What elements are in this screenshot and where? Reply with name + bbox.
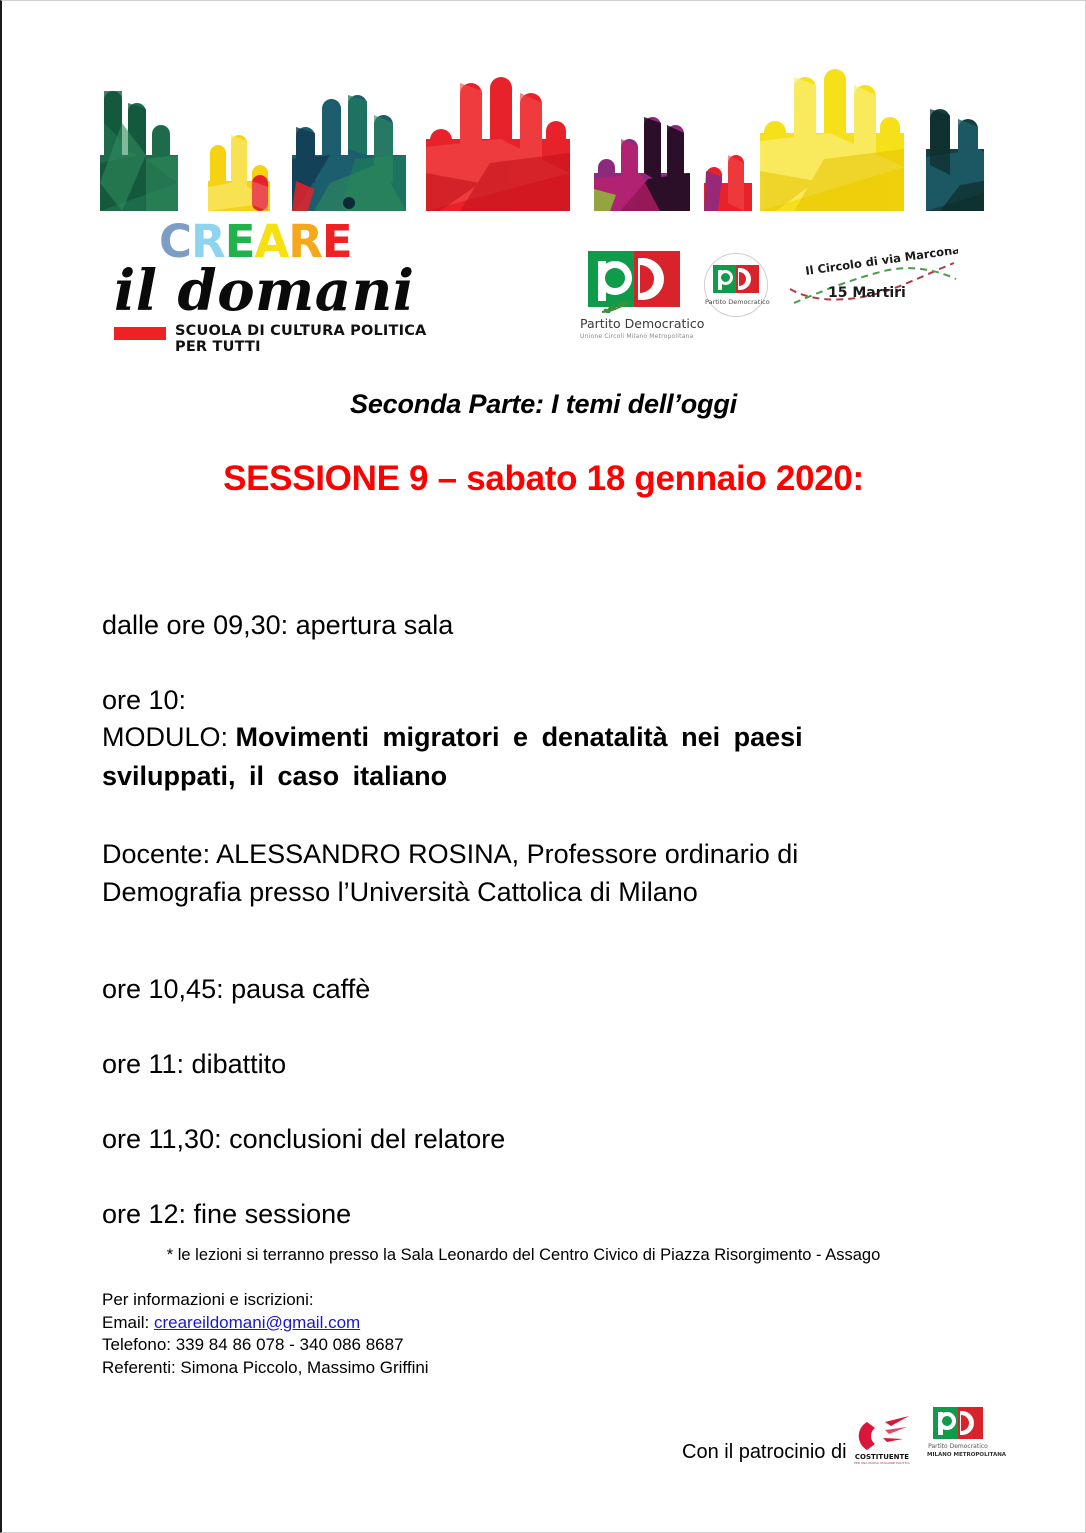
poster-page: CREARE il domani SCUOLA DI CULTURA POLIT… xyxy=(0,0,1086,1533)
circolo-via-marcona-logo: Il Circolo di via Marcona 15 Martiri xyxy=(788,249,958,311)
schedule-module: MODULO: Movimenti migratori e denatalità… xyxy=(102,718,857,795)
patronage-label: Con il patrocinio di xyxy=(682,1441,847,1464)
pd-p-bowl xyxy=(598,261,632,295)
contact-block: Per informazioni e iscrizioni: Email: cr… xyxy=(102,1289,429,1379)
olive-branch-icon xyxy=(600,300,640,314)
poster-subtitle: Seconda Parte: I temi dell’oggi xyxy=(2,389,1085,420)
pd-circle-caption: Partito Democratico xyxy=(705,298,767,306)
pd-logo-circle: Partito Democratico xyxy=(704,253,768,317)
pd-logo-subcaption: Unione Circoli Milano Metropolitana xyxy=(580,333,688,340)
module-label: MODULO: xyxy=(102,722,236,752)
pd-p-bowl-milano xyxy=(938,1412,956,1430)
logo-tagline-line1: SCUOLA DI CULTURA POLITICA xyxy=(175,323,426,339)
contact-phone: Telefono: 339 84 86 078 - 340 086 8687 xyxy=(102,1334,429,1357)
costituente-logo: COSTITUENTE PER UNA NUOVA STAGIONE POLIT… xyxy=(851,1408,913,1466)
schedule-conclusioni: ore 11,30: conclusioni del relatore xyxy=(102,1122,972,1157)
logo-red-bar xyxy=(114,327,166,340)
schedule-pausa: ore 10,45: pausa caffè xyxy=(102,972,972,1007)
logo-tagline-row: SCUOLA DI CULTURA POLITICA PER TUTTI xyxy=(114,323,534,355)
pd-milano-subcaption: MILANO METROPOLITANA xyxy=(927,1452,989,1458)
session-title: SESSIONE 9 – sabato 18 gennaio 2020: xyxy=(2,459,1085,499)
pd-mark-icon-milano xyxy=(933,1407,983,1439)
pd-milano-logo: Partito Democratico MILANO METROPOLITANA xyxy=(927,1407,989,1467)
pd-mark-icon xyxy=(588,251,680,307)
circolo-line1: Il Circolo di via Marcona xyxy=(804,249,958,278)
pd-mark-icon-small xyxy=(713,265,759,293)
logo-tagline-line2: PER TUTTI xyxy=(175,339,426,355)
logo-tagline: SCUOLA DI CULTURA POLITICA PER TUTTI xyxy=(175,323,426,355)
contact-heading: Per informazioni e iscrizioni: xyxy=(102,1289,429,1312)
svg-text:PER UNA NUOVA STAGIONE POLITIC: PER UNA NUOVA STAGIONE POLITICA xyxy=(854,1461,911,1465)
schedule-dibattito: ore 11: dibattito xyxy=(102,1047,972,1082)
circolo-line2: 15 Martiri xyxy=(828,285,906,301)
schedule-docente: Docente: ALESSANDRO ROSINA, Professore o… xyxy=(102,835,892,912)
email-label: Email: xyxy=(102,1313,154,1332)
contact-referents: Referenti: Simona Piccolo, Massimo Griff… xyxy=(102,1357,429,1380)
schedule-fine: ore 12: fine sessione xyxy=(102,1197,972,1232)
venue-footnote: * le lezioni si terranno presso la Sala … xyxy=(2,1246,1045,1265)
creare-il-domani-logo: CREARE il domani SCUOLA DI CULTURA POLIT… xyxy=(114,219,534,355)
costituente-caption: COSTITUENTE xyxy=(855,1453,909,1461)
contact-email-row: Email: creareildomani@gmail.com xyxy=(102,1312,429,1335)
pd-logo-caption: Partito Democratico xyxy=(580,316,688,331)
schedule-body: dalle ore 09,30: apertura sala ore 10: M… xyxy=(102,608,972,1272)
pd-p-bowl-small xyxy=(718,270,733,285)
pd-logo-main: Partito Democratico Unione Circoli Milan… xyxy=(580,251,688,340)
pd-milano-caption: Partito Democratico xyxy=(927,1443,989,1450)
schedule-ore10-label: ore 10: xyxy=(102,683,972,718)
schedule-opening: dalle ore 09,30: apertura sala xyxy=(102,608,972,643)
email-link[interactable]: creareildomani@gmail.com xyxy=(154,1313,360,1332)
raised-hands-banner-image xyxy=(100,63,984,216)
ildomani-wordmark: il domani xyxy=(114,263,534,319)
